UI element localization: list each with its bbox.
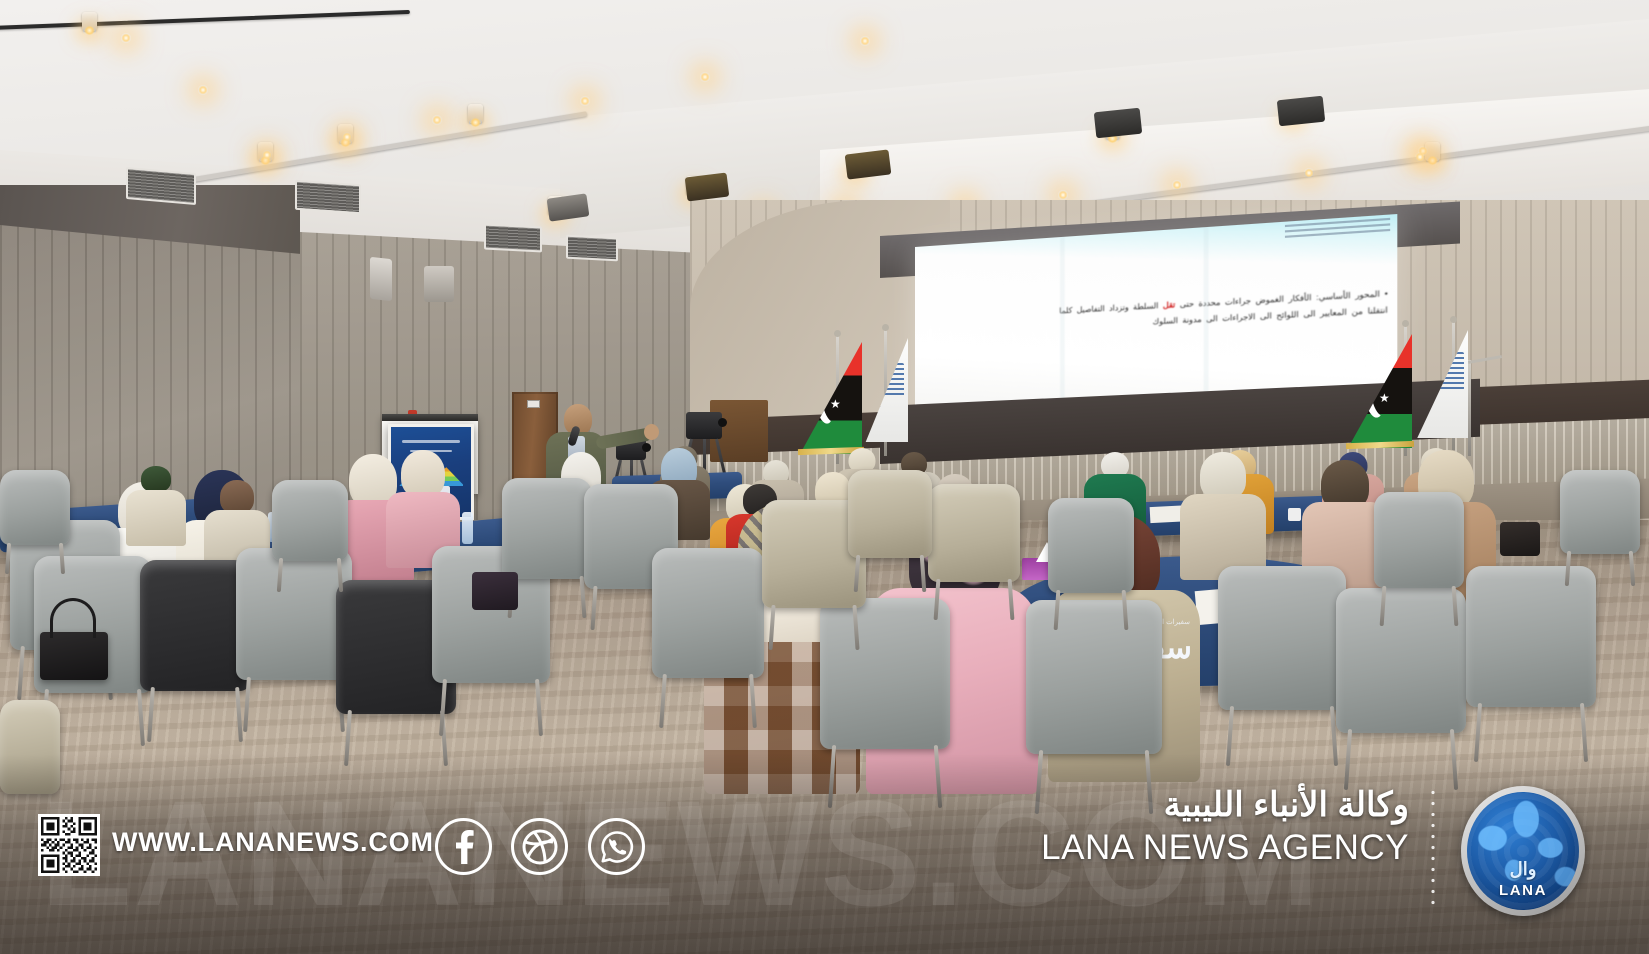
logo-text-english: LANA — [1467, 882, 1579, 899]
chair[interactable] — [1218, 566, 1346, 766]
spotlight-icon — [82, 12, 97, 31]
star-icon: ★ — [830, 398, 841, 410]
hvac-vent — [566, 235, 618, 262]
agency-name-english: LANA NEWS AGENCY — [1041, 828, 1409, 868]
facebook-icon[interactable] — [435, 818, 492, 875]
flipchart-clip — [382, 414, 478, 421]
exit-sign — [527, 400, 540, 408]
slide-line-1-post: السلطة وتزداد التفاصيل كلما — [1059, 301, 1158, 316]
logo-text-arabic: وال — [1467, 859, 1579, 880]
ceiling-light — [432, 115, 442, 125]
whatsapp-icon[interactable] — [588, 818, 645, 875]
ceiling-downlight — [1172, 180, 1182, 190]
wall-speaker — [685, 173, 730, 202]
wall-speaker — [1277, 96, 1325, 127]
slide-text: • المحور الأساسي: الأفكار الغموض جراءات … — [929, 285, 1388, 340]
presenter-hand — [644, 424, 659, 440]
star-icon: ★ — [1379, 392, 1390, 404]
video-camera-icon — [686, 412, 722, 439]
slide-highlight-word: تقل — [1163, 300, 1175, 310]
chair[interactable] — [0, 470, 70, 574]
brand-divider — [1431, 787, 1435, 911]
slide-bullet: • — [1385, 289, 1388, 299]
globe-icon: وال LANA — [1467, 792, 1579, 910]
ceiling-light — [580, 96, 590, 106]
chair[interactable] — [1026, 600, 1162, 814]
slide-line-1-pre: المحور الأساسي: الأفكار الغموض جراءات مح… — [1180, 289, 1380, 309]
attendee — [126, 466, 186, 546]
mic-stand — [1468, 360, 1471, 456]
ceiling-light — [342, 132, 352, 142]
slide-header-mark — [1285, 218, 1390, 240]
hvac-vent — [295, 180, 361, 215]
ceiling-light — [700, 72, 710, 82]
chair[interactable] — [848, 470, 932, 592]
chair[interactable] — [1048, 498, 1134, 630]
wall-speaker — [845, 149, 892, 179]
handbag — [472, 572, 518, 610]
ceiling-downlight — [1415, 152, 1425, 162]
ceiling-light — [262, 150, 272, 160]
chair[interactable] — [272, 480, 348, 592]
lana-logo[interactable]: وال LANA — [1461, 786, 1585, 916]
handbag — [40, 632, 108, 680]
dribbble-icon[interactable] — [511, 818, 568, 875]
handbag-strap — [50, 598, 96, 638]
chair[interactable] — [1466, 566, 1596, 762]
water-bottle — [462, 512, 473, 544]
ceiling-light — [121, 33, 131, 43]
attendee — [1180, 452, 1266, 580]
cup — [1288, 508, 1301, 521]
ceiling-downlight — [1304, 168, 1314, 178]
handbag — [1500, 522, 1540, 556]
wall-speaker — [1094, 108, 1142, 139]
hvac-vent — [126, 167, 196, 205]
agency-name-arabic: وكالة الأنباء الليبية — [1164, 785, 1409, 825]
chair[interactable] — [1560, 470, 1640, 586]
photo-canvas: • المحور الأساسي: الأفكار الغموض جراءات … — [0, 0, 1649, 954]
website-url[interactable]: WWW.LANANEWS.COM — [112, 827, 434, 858]
hvac-vent — [484, 223, 542, 252]
chair[interactable] — [1374, 492, 1464, 626]
chair[interactable] — [0, 700, 60, 830]
slide-line-2: انتقلنا من المعايير الى اللوائح الى الاج… — [1153, 305, 1388, 326]
spotlight-icon — [468, 104, 483, 123]
chair[interactable] — [928, 484, 1020, 620]
wall-speaker — [424, 266, 454, 302]
poster-title-line — [402, 440, 460, 443]
wall-speaker — [370, 257, 392, 301]
ceiling-light — [198, 85, 208, 95]
chair[interactable] — [140, 560, 250, 742]
ceiling-downlight — [1058, 190, 1068, 200]
ceiling-light — [860, 36, 870, 46]
chair[interactable] — [652, 548, 764, 728]
qr-code[interactable] — [38, 814, 100, 876]
